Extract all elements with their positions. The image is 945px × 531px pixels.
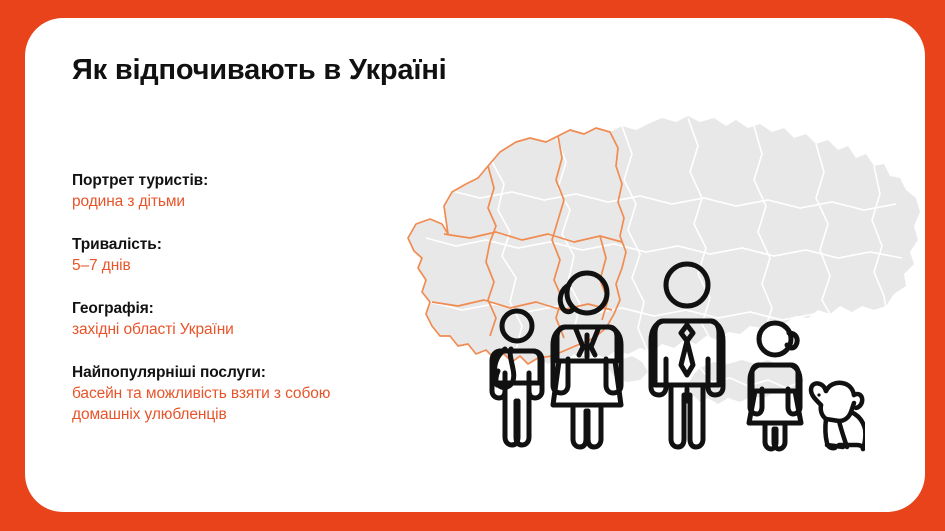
fact-item-services: Найпопулярніші послуги: басейн та можлив… <box>72 362 372 425</box>
fact-label: Тривалість: <box>72 234 372 255</box>
fact-item-duration: Тривалість: 5–7 днів <box>72 234 372 276</box>
fact-item-geography: Географія: західні області України <box>72 298 372 340</box>
boy-with-backpack-figure <box>492 311 542 445</box>
fact-label: Географія: <box>72 298 372 319</box>
content-card: Як відпочивають в Україні Портрет турист… <box>25 18 925 512</box>
girl-figure <box>749 323 801 449</box>
sitting-dog-figure <box>811 383 865 449</box>
fact-value: західні області України <box>72 319 372 340</box>
family-figures <box>465 223 865 453</box>
fact-value: 5–7 днів <box>72 255 372 276</box>
fact-label: Портрет туристів: <box>72 170 372 191</box>
fact-value: родина з дітьми <box>72 191 372 212</box>
facts-list: Портрет туристів: родина з дітьми Тривал… <box>72 170 372 425</box>
slide-root: Як відпочивають в Україні Портрет турист… <box>0 0 945 531</box>
man-with-tie-figure <box>651 264 723 447</box>
fact-label: Найпопулярніші послуги: <box>72 362 372 383</box>
fact-item-portrait: Портрет туристів: родина з дітьми <box>72 170 372 212</box>
fact-value: басейн та можливість взяти з собою домаш… <box>72 383 372 425</box>
woman-figure <box>553 273 621 447</box>
page-title: Як відпочивають в Україні <box>72 54 447 87</box>
